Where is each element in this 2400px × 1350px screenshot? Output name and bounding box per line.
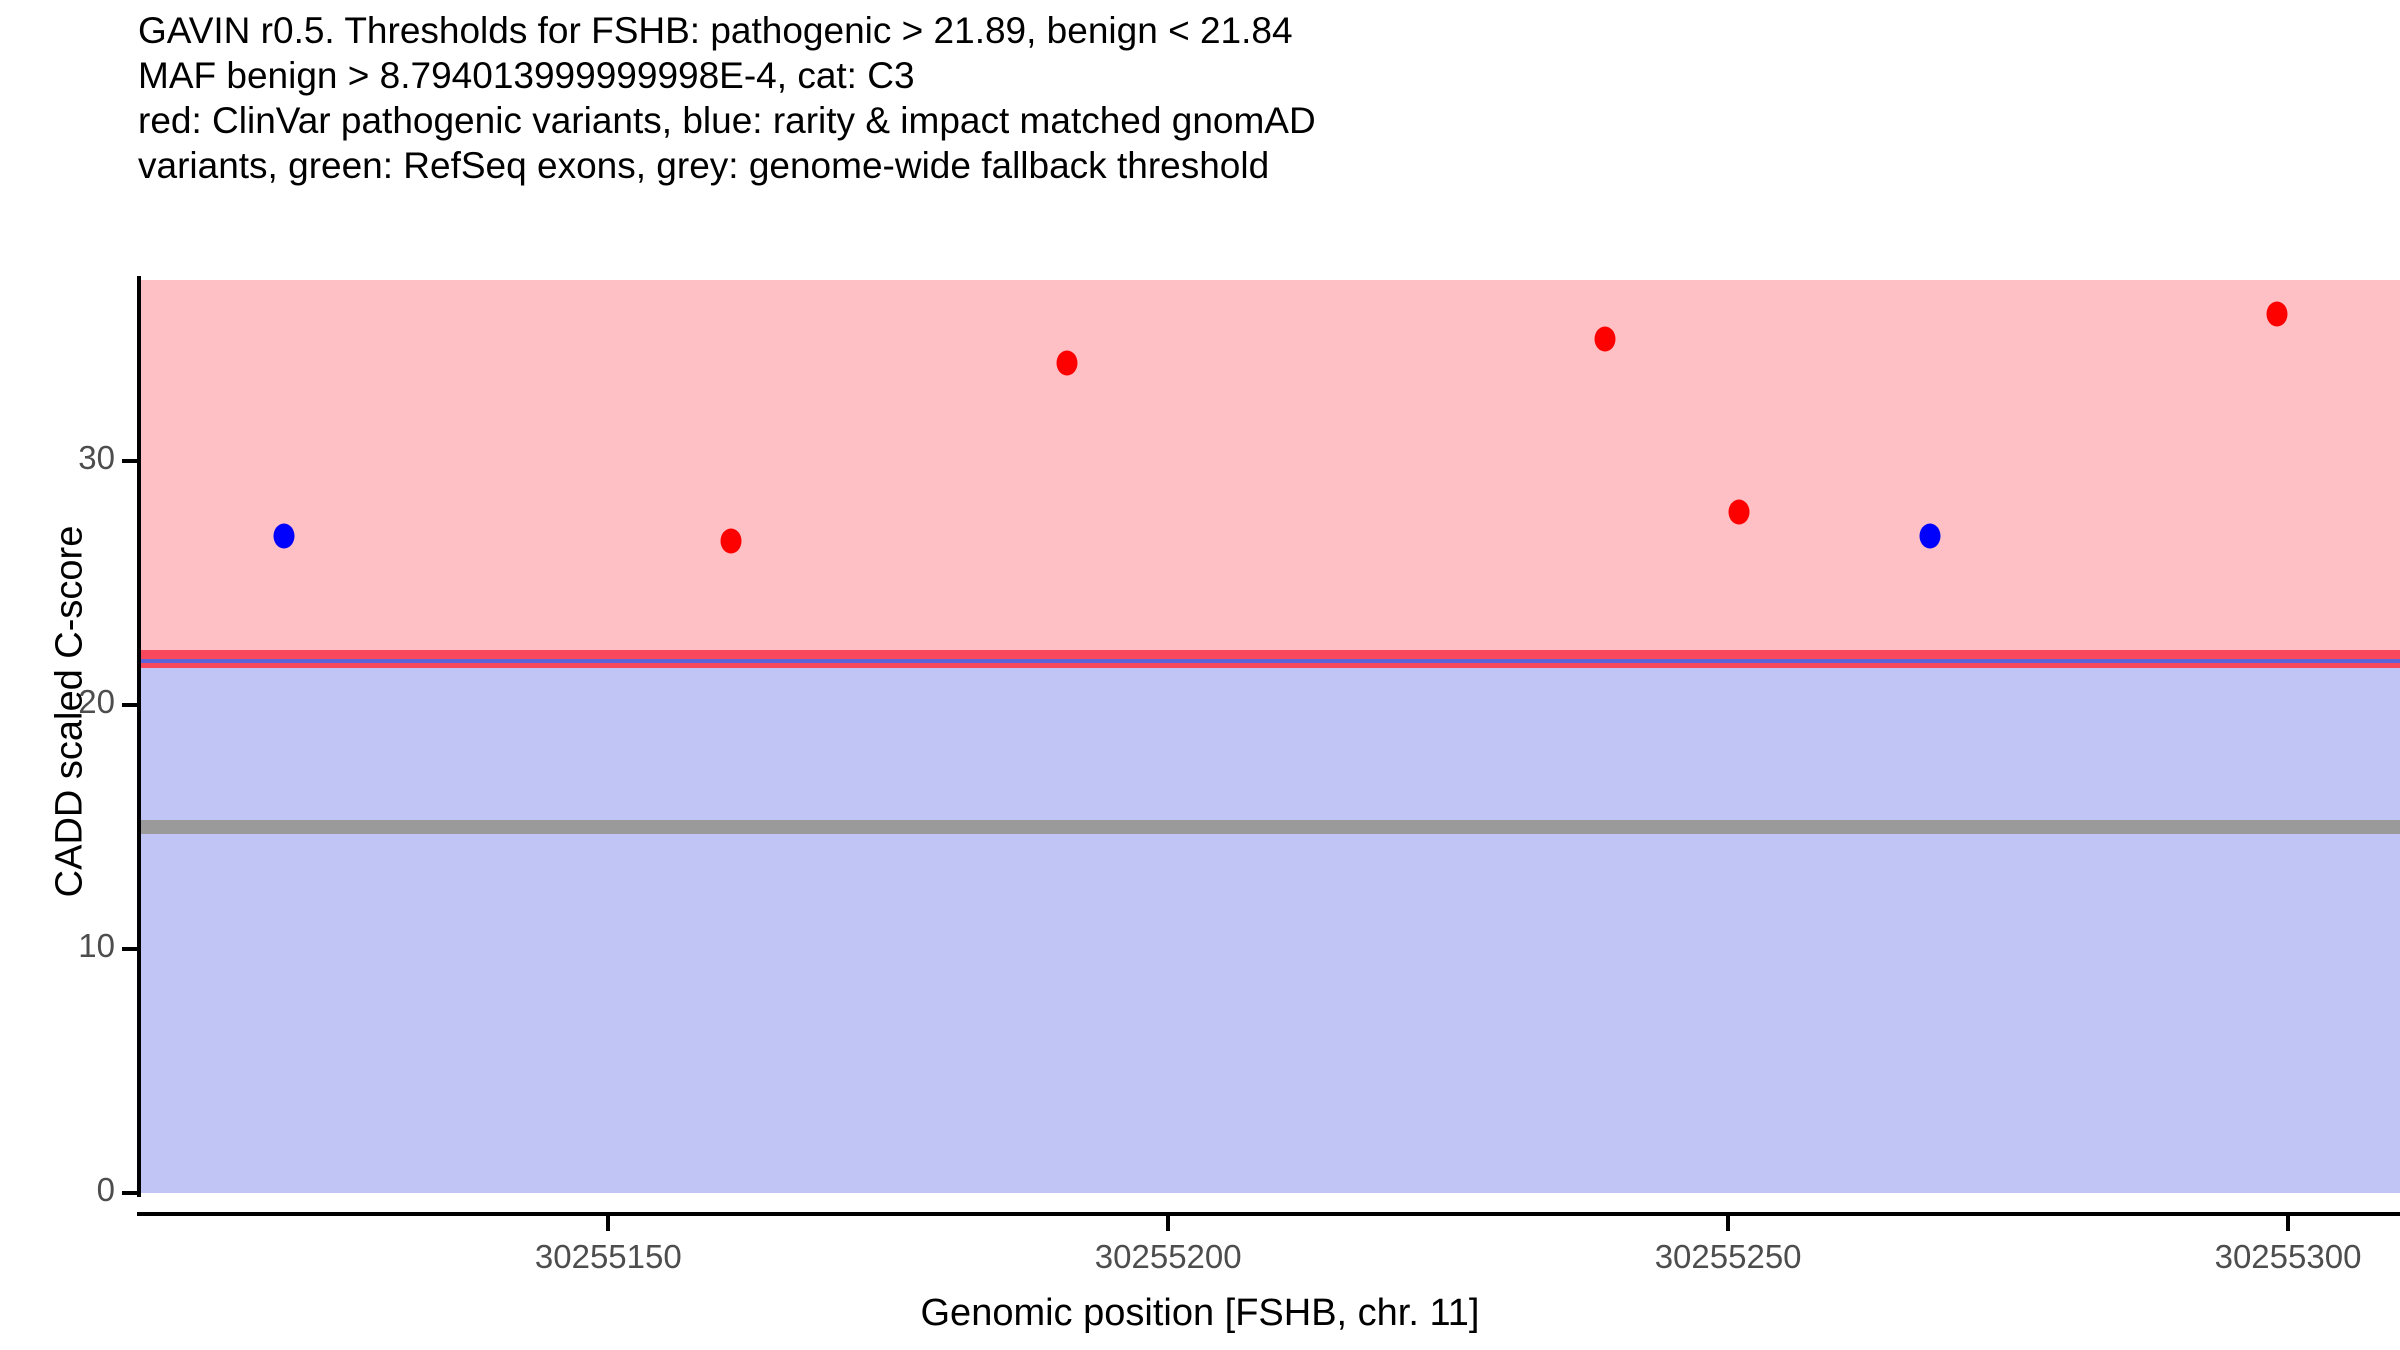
- benign-region-band: [138, 660, 2400, 1193]
- benign-threshold-line: [138, 659, 2400, 663]
- y-axis-title: CADD scaled C-score: [49, 312, 92, 1112]
- x-axis-tick-label: 30255200: [1095, 1238, 1242, 1276]
- pathogenic-variant-point: [1057, 351, 1078, 376]
- plot-title-block: GAVIN r0.5. Thresholds for FSHB: pathoge…: [138, 8, 2338, 188]
- plot-panel: [138, 280, 2400, 1193]
- pathogenic-variant-point: [721, 529, 742, 554]
- x-axis-tick: [1166, 1216, 1170, 1231]
- x-axis-tick-label: 30255150: [535, 1238, 682, 1276]
- y-axis-tick: [122, 947, 137, 951]
- plot-title-line-2: MAF benign > 8.794013999999998E-4, cat: …: [138, 53, 2338, 98]
- x-axis-line: [137, 1212, 2400, 1216]
- plot-title-line-1: GAVIN r0.5. Thresholds for FSHB: pathoge…: [138, 8, 2338, 53]
- gnomad-variant-point: [273, 524, 294, 549]
- y-axis-line: [137, 276, 141, 1197]
- x-axis-tick: [606, 1216, 610, 1231]
- pathogenic-variant-point: [1594, 326, 1615, 351]
- x-axis-tick-label: 30255250: [1655, 1238, 1802, 1276]
- x-axis-title: Genomic position [FSHB, chr. 11]: [0, 1292, 2400, 1335]
- pathogenic-variant-point: [2266, 302, 2287, 327]
- plot-title-line-3: red: ClinVar pathogenic variants, blue: …: [138, 98, 2338, 143]
- y-axis-tick: [122, 1191, 137, 1195]
- x-axis-tick: [1726, 1216, 1730, 1231]
- plot-title-line-4: variants, green: RefSeq exons, grey: gen…: [138, 143, 2338, 188]
- pathogenic-region-band: [138, 280, 2400, 659]
- x-axis-tick: [2286, 1216, 2290, 1231]
- pathogenic-variant-point: [1729, 499, 1750, 524]
- gnomad-variant-point: [1919, 524, 1940, 549]
- x-axis-tick-label: 30255300: [2215, 1238, 2362, 1276]
- y-axis-tick: [122, 459, 137, 463]
- genome-wide-fallback-threshold-line: [138, 820, 2400, 834]
- y-axis-tick-label: 0: [40, 1171, 115, 1209]
- y-axis-tick: [122, 703, 137, 707]
